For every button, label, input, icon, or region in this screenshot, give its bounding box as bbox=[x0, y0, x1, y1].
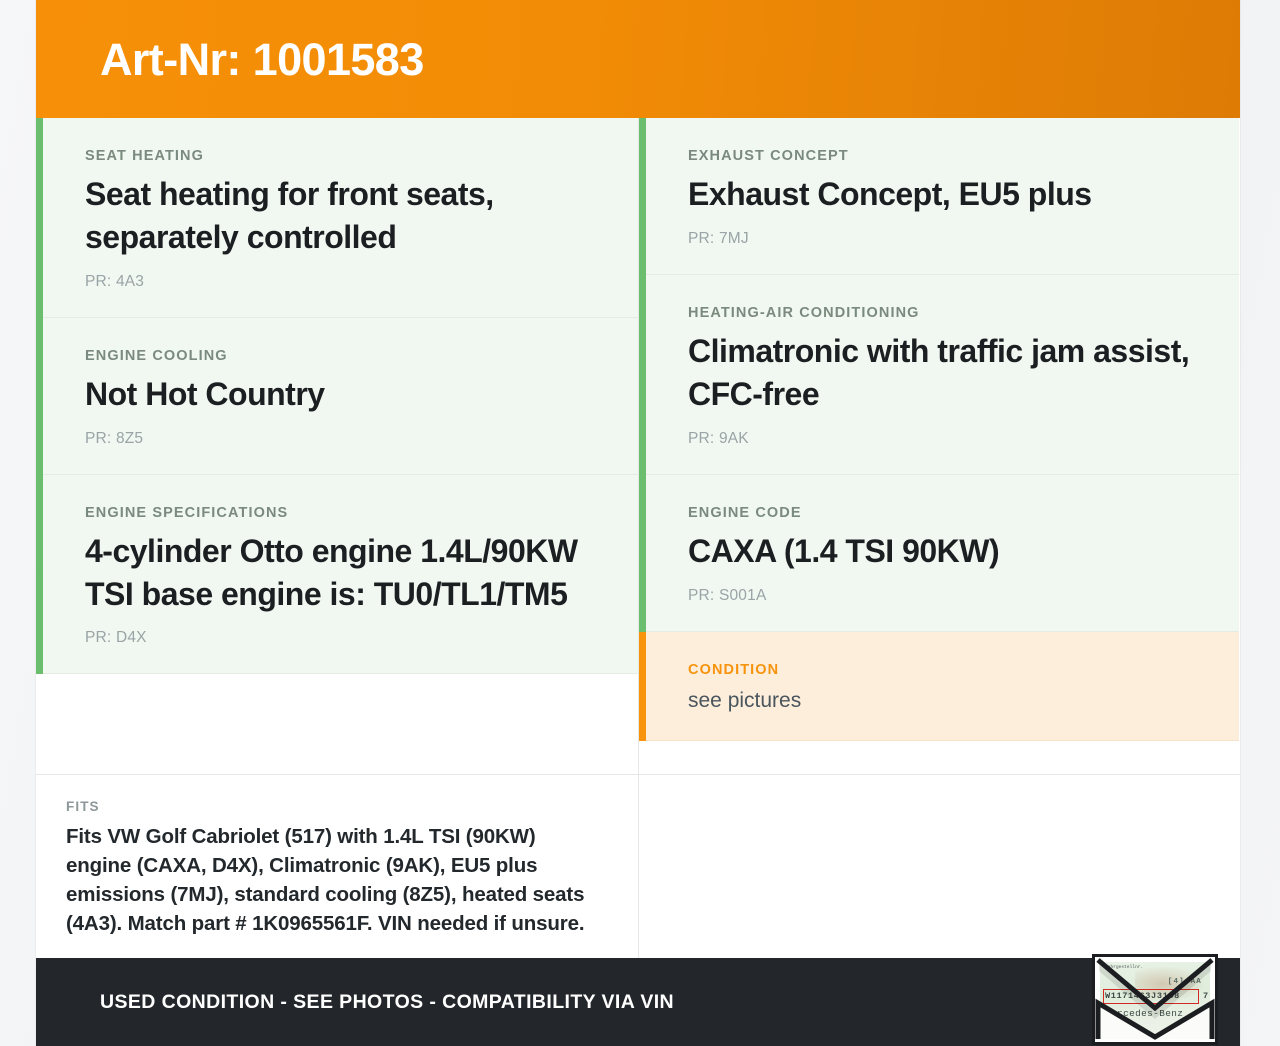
spec-pr-code: PR: S001A bbox=[688, 587, 1205, 605]
listing-panel: Art-Nr: 1001583 SEAT HEATING Seat heatin… bbox=[36, 0, 1240, 1046]
spec-pr-code: PR: 7MJ bbox=[688, 230, 1205, 248]
spec-card-engine-code: ENGINE CODE CAXA (1.4 TSI 90KW) PR: S001… bbox=[639, 475, 1239, 632]
fits-label: FITS bbox=[66, 799, 598, 814]
spec-value: CAXA (1.4 TSI 90KW) bbox=[688, 530, 1205, 573]
spec-card-exhaust-concept: EXHAUST CONCEPT Exhaust Concept, EU5 plu… bbox=[639, 118, 1239, 275]
spec-value: 4-cylinder Otto engine 1.4L/90KW TSI bas… bbox=[85, 530, 604, 616]
fits-text: Fits VW Golf Cabriolet (517) with 1.4L T… bbox=[66, 822, 598, 938]
spec-label: SEAT HEATING bbox=[85, 148, 604, 164]
envelope-flap-shape bbox=[1095, 957, 1215, 1042]
spec-value: Not Hot Country bbox=[85, 373, 604, 416]
spec-column-left-filler bbox=[36, 674, 638, 773]
spec-label: ENGINE COOLING bbox=[85, 348, 604, 364]
footer-text: USED CONDITION - SEE PHOTOS - COMPATIBIL… bbox=[100, 991, 674, 1014]
spec-card-heating-air-conditioning: HEATING-AIR CONDITIONING Climatronic wit… bbox=[639, 275, 1239, 475]
spec-card-engine-specifications: ENGINE SPECIFICATIONS 4-cylinder Otto en… bbox=[36, 475, 638, 675]
spec-card-engine-cooling: ENGINE COOLING Not Hot Country PR: 8Z5 bbox=[36, 318, 638, 475]
spec-label: EXHAUST CONCEPT bbox=[688, 148, 1205, 164]
spec-value: Exhaust Concept, EU5 plus bbox=[688, 173, 1205, 216]
spec-label: ENGINE SPECIFICATIONS bbox=[85, 505, 604, 521]
condition-label: CONDITION bbox=[688, 662, 1205, 678]
condition-value: see pictures bbox=[688, 687, 1205, 714]
spec-pr-code: PR: 4A3 bbox=[85, 273, 604, 291]
spec-label: ENGINE CODE bbox=[688, 505, 1205, 521]
fits-empty-cell bbox=[639, 775, 1240, 958]
spec-label: HEATING-AIR CONDITIONING bbox=[688, 305, 1205, 321]
spec-pr-code: PR: 9AK bbox=[688, 430, 1205, 448]
header-bar: Art-Nr: 1001583 bbox=[36, 0, 1240, 118]
fits-cell: FITS Fits VW Golf Cabriolet (517) with 1… bbox=[36, 775, 639, 958]
spec-column-right-filler bbox=[639, 741, 1239, 774]
spec-card-condition: CONDITION see pictures bbox=[639, 632, 1239, 741]
fits-row: FITS Fits VW Golf Cabriolet (517) with 1… bbox=[36, 774, 1240, 958]
spec-value: Climatronic with traffic jam assist, CFC… bbox=[688, 330, 1205, 416]
spec-column-right: EXHAUST CONCEPT Exhaust Concept, EU5 plu… bbox=[639, 118, 1239, 774]
spec-value: Seat heating for front seats, separately… bbox=[85, 173, 604, 259]
footer-bar: USED CONDITION - SEE PHOTOS - COMPATIBIL… bbox=[36, 958, 1240, 1046]
spec-grid: SEAT HEATING Seat heating for front seat… bbox=[36, 118, 1240, 774]
spec-column-left: SEAT HEATING Seat heating for front seat… bbox=[36, 118, 639, 774]
page-title: Art-Nr: 1001583 bbox=[100, 37, 424, 82]
spec-card-seat-heating: SEAT HEATING Seat heating for front seat… bbox=[36, 118, 638, 318]
spec-pr-code: PR: D4X bbox=[85, 629, 604, 647]
spec-pr-code: PR: 8Z5 bbox=[85, 430, 604, 448]
envelope-icon: Fahrgestellnr. [4] AA W1171463J3148 7 Me… bbox=[1092, 954, 1218, 1045]
